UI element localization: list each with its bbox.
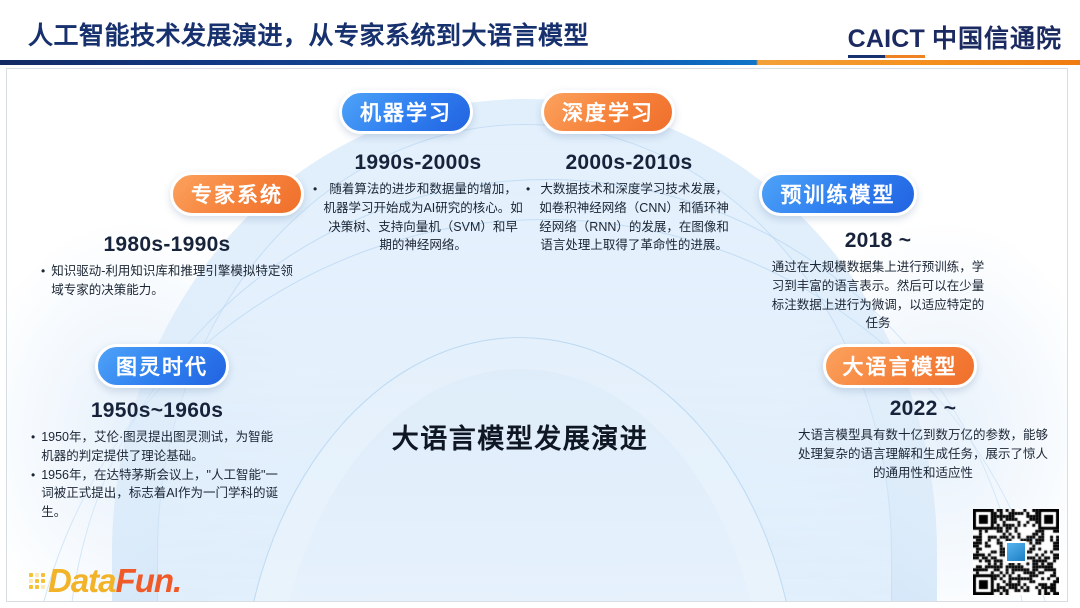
bullet-item: • 1956年，在达特茅斯会议上，"人工智能"一词被正式提出，标志着AI作为一门… (31, 466, 283, 522)
bullet-dot-icon: • (31, 428, 35, 446)
stage-deep-learning: 2000s-2010s • 大数据技术和深度学习技术发展，如卷积神经网络（CNN… (526, 151, 732, 255)
bullet-item: • 随着算法的进步和数据量的增加，机器学习开始成为AI研究的核心。如决策树、支持… (313, 180, 523, 255)
pill-machine-learning[interactable]: 机器学习 (339, 90, 473, 134)
desc-deep-learning: • 大数据技术和深度学习技术发展，如卷积神经网络（CNN）和循环神经网络（RNN… (526, 180, 732, 255)
desc-machine-learning: • 随着算法的进步和数据量的增加，机器学习开始成为AI研究的核心。如决策树、支持… (313, 180, 523, 255)
datafun-watermark-logo: DataFun. (29, 564, 181, 597)
bullet-text: 随着算法的进步和数据量的增加，机器学习开始成为AI研究的核心。如决策树、支持向量… (323, 180, 523, 255)
pill-turing-era[interactable]: 图灵时代 (95, 344, 229, 388)
qr-center-logo-icon (1005, 541, 1027, 563)
page-title: 人工智能技术发展演进，从专家系统到大语言模型 (28, 16, 589, 52)
qr-code[interactable] (973, 509, 1059, 595)
caict-underline-accent (848, 55, 925, 59)
bullet-text: 1956年，在达特茅斯会议上，"人工智能"一词被正式提出，标志着AI作为一门学科… (41, 466, 283, 522)
pill-pretrained-model[interactable]: 预训练模型 (759, 172, 917, 216)
bullet-text: 1950年，艾伦·图灵提出图灵测试，为智能机器的判定提供了理论基础。 (41, 428, 283, 466)
stage-pretrained-model: 2018 ~ 通过在大规模数据集上进行预训练，学习到丰富的语言表示。然后可以在少… (767, 229, 989, 333)
pill-large-language-model[interactable]: 大语言模型 (823, 344, 977, 388)
datafun-wordmark: DataFun. (48, 564, 181, 597)
diagram-center-title: 大语言模型发展演进 (275, 417, 765, 456)
desc-large-language-model: 大语言模型具有数十亿到数万亿的参数，能够处理复杂的语言理解和生成任务，展示了惊人… (797, 426, 1049, 482)
desc-pretrained-model: 通过在大规模数据集上进行预训练，学习到丰富的语言表示。然后可以在少量标注数据上进… (767, 258, 989, 333)
slide-content-area: 图灵时代 专家系统 机器学习 深度学习 预训练模型 大语言模型 1950s~19… (6, 68, 1068, 602)
bullet-dot-icon: • (31, 466, 35, 484)
bullet-dot-icon: • (313, 180, 317, 198)
bullet-item: • 大数据技术和深度学习技术发展，如卷积神经网络（CNN）和循环神经网络（RNN… (526, 180, 732, 255)
stage-large-language-model: 2022 ~ 大语言模型具有数十亿到数万亿的参数，能够处理复杂的语言理解和生成任… (797, 397, 1049, 482)
bullet-item: • 1950年，艾伦·图灵提出图灵测试，为智能机器的判定提供了理论基础。 (31, 428, 283, 466)
datafun-text-fun: Fun. (116, 562, 182, 599)
bullet-dot-icon: • (41, 262, 45, 280)
slide-header: 人工智能技术发展演进，从专家系统到大语言模型 CAICT 中国信通院 (0, 0, 1080, 62)
dome-inner-arc (240, 337, 800, 602)
slide-page: 人工智能技术发展演进，从专家系统到大语言模型 CAICT 中国信通院 图灵时代 … (0, 0, 1080, 608)
era-label-machine-learning: 1990s-2000s (313, 151, 523, 175)
bullet-text: 大数据技术和深度学习技术发展，如卷积神经网络（CNN）和循环神经网络（RNN）的… (536, 180, 732, 255)
stage-expert-system: 1980s-1990s • 知识驱动-利用知识库和推理引擎模拟特定领域专家的决策… (41, 233, 293, 300)
pill-deep-learning[interactable]: 深度学习 (541, 90, 675, 134)
stage-turing-era: 1950s~1960s • 1950年，艾伦·图灵提出图灵测试，为智能机器的判定… (31, 399, 283, 522)
pill-expert-system[interactable]: 专家系统 (170, 172, 304, 216)
header-divider-rule (0, 60, 1080, 65)
desc-expert-system: • 知识驱动-利用知识库和推理引擎模拟特定领域专家的决策能力。 (41, 262, 293, 300)
era-label-expert-system: 1980s-1990s (41, 233, 293, 257)
caict-logo: CAICT 中国信通院 (848, 19, 1062, 55)
bullet-item: • 知识驱动-利用知识库和推理引擎模拟特定领域专家的决策能力。 (41, 262, 293, 300)
era-label-large-language-model: 2022 ~ (797, 397, 1049, 421)
stage-machine-learning: 1990s-2000s • 随着算法的进步和数据量的增加，机器学习开始成为AI研… (313, 151, 523, 255)
dome-core-arc (275, 369, 765, 602)
datafun-dots-icon (29, 573, 45, 589)
era-label-turing: 1950s~1960s (31, 399, 283, 423)
datafun-text-data: Data (48, 562, 116, 599)
bullet-text: 知识驱动-利用知识库和推理引擎模拟特定领域专家的决策能力。 (51, 262, 293, 300)
era-label-deep-learning: 2000s-2010s (526, 151, 732, 175)
era-label-pretrained-model: 2018 ~ (767, 229, 989, 253)
bullet-dot-icon: • (526, 180, 530, 198)
caict-wordmark: CAICT (848, 25, 925, 54)
caict-chinese-text: 中国信通院 (932, 19, 1062, 55)
desc-turing: • 1950年，艾伦·图灵提出图灵测试，为智能机器的判定提供了理论基础。 • 1… (31, 428, 283, 522)
caict-latin-text: CAICT (848, 25, 925, 53)
